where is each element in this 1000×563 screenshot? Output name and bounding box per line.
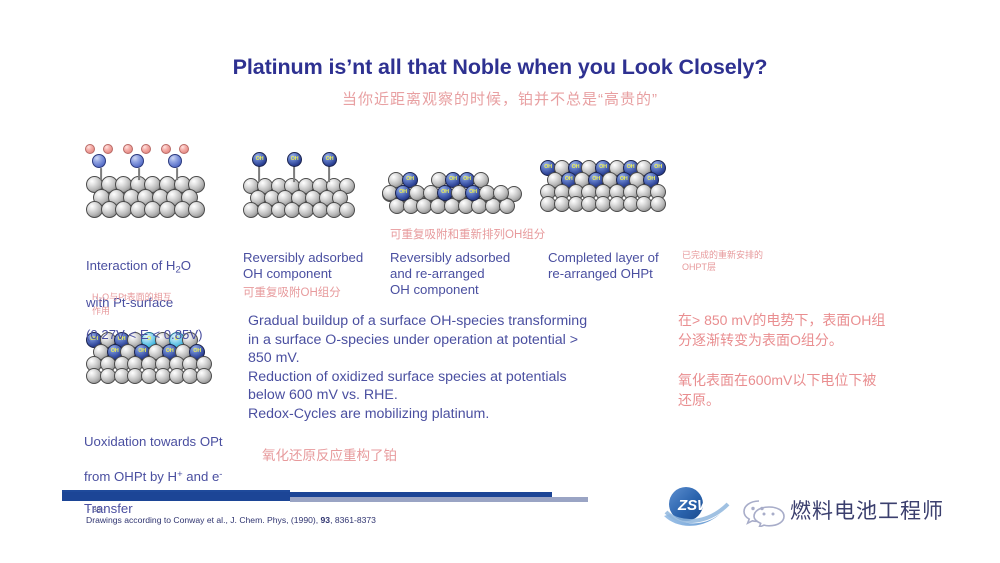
zsw-logo-icon: ZSW bbox=[662, 486, 732, 532]
atom-bond bbox=[258, 166, 260, 182]
pt-atom bbox=[339, 202, 355, 218]
caption-diagram-5: Uoxidation towards OPt from OHPt by H+ a… bbox=[84, 418, 259, 517]
caption-line: Uoxidation towards OPt bbox=[84, 434, 223, 449]
atom-bond bbox=[99, 168, 101, 180]
caption-diagram-1-cn: H2O与Pt表面的相互作用 bbox=[92, 292, 232, 318]
reference-prefix: Drawings according to Conway et al., J. … bbox=[86, 515, 321, 525]
body-paragraph-cn: 氧化还原反应重构了铂 bbox=[262, 447, 562, 464]
reference-suffix: , 8361-8373 bbox=[330, 515, 376, 525]
pt-atom bbox=[650, 196, 666, 212]
wechat-account-name: 燃料电池工程师 bbox=[790, 495, 944, 525]
water-hydrogen-atom bbox=[179, 144, 189, 154]
oh-atom bbox=[322, 152, 337, 167]
atom-bond bbox=[293, 166, 295, 182]
caption-diagram-4-cn: 已完成的重新安排的 OHPT层 bbox=[682, 250, 812, 273]
zsw-logo: ZSW bbox=[662, 486, 732, 532]
water-oxygen-atom bbox=[130, 154, 144, 168]
diagram-oxidation-to-opt: OHOHOOOHOHOHOH bbox=[86, 332, 232, 416]
pt-atom bbox=[493, 185, 509, 201]
caption-line: Interaction of H2O bbox=[86, 258, 191, 273]
caption-diagram-2: Reversibly adsorbed OH component bbox=[243, 250, 403, 282]
slide-canvas: Platinum is’nt all that Noble when you L… bbox=[0, 0, 1000, 563]
reference-citation: Drawings according to Conway et al., J. … bbox=[86, 515, 376, 525]
atom-bond bbox=[328, 166, 330, 182]
atom-bond bbox=[175, 168, 177, 180]
caption-diagram-3: Reversibly adsorbed and re-arranged OH c… bbox=[390, 250, 550, 299]
water-hydrogen-atom bbox=[85, 144, 95, 154]
caption-diagram-3-cn: 可重复吸附和重新排列OH组分 bbox=[390, 228, 590, 242]
right-note-2: 氧化表面在600mV以下电位下被 还原。 bbox=[678, 370, 978, 410]
water-oxygen-atom bbox=[168, 154, 182, 168]
oh-atom bbox=[287, 152, 302, 167]
caption-diagram-2-cn: 可重复吸附OH组分 bbox=[243, 286, 413, 300]
page-number: - 39 - bbox=[88, 505, 106, 514]
oh-atom bbox=[252, 152, 267, 167]
pt-atom bbox=[188, 201, 205, 218]
page-title: Platinum is’nt all that Noble when you L… bbox=[0, 55, 1000, 80]
page-subtitle: 当你近距离观察的时候，铂并不总是“高贵的” bbox=[0, 88, 1000, 109]
water-hydrogen-atom bbox=[161, 144, 171, 154]
pt-atom bbox=[196, 368, 212, 384]
water-hydrogen-atom bbox=[141, 144, 151, 154]
diagram-water-on-pt bbox=[86, 142, 211, 242]
caption-line: (0.27V < E < 0.85V) bbox=[86, 327, 203, 342]
water-hydrogen-atom bbox=[123, 144, 133, 154]
water-oxygen-atom bbox=[92, 154, 106, 168]
zsw-logo-text: ZSW bbox=[677, 497, 713, 514]
diagram-reversibly-adsorbed-oh: OHOHOH bbox=[243, 150, 358, 242]
water-hydrogen-atom bbox=[103, 144, 113, 154]
atom-bond bbox=[137, 168, 139, 180]
footer-bar-grey bbox=[290, 497, 588, 502]
wechat-icon bbox=[742, 497, 786, 527]
reference-volume: 93 bbox=[321, 515, 331, 525]
caption-line: from OHPt by H+ and e- bbox=[84, 469, 222, 484]
body-paragraph: Gradual buildup of a surface OH-species … bbox=[248, 312, 668, 424]
right-note-1: 在> 850 mV的电势下，表面OH组 分逐渐转变为表面O组分。 bbox=[678, 310, 978, 350]
